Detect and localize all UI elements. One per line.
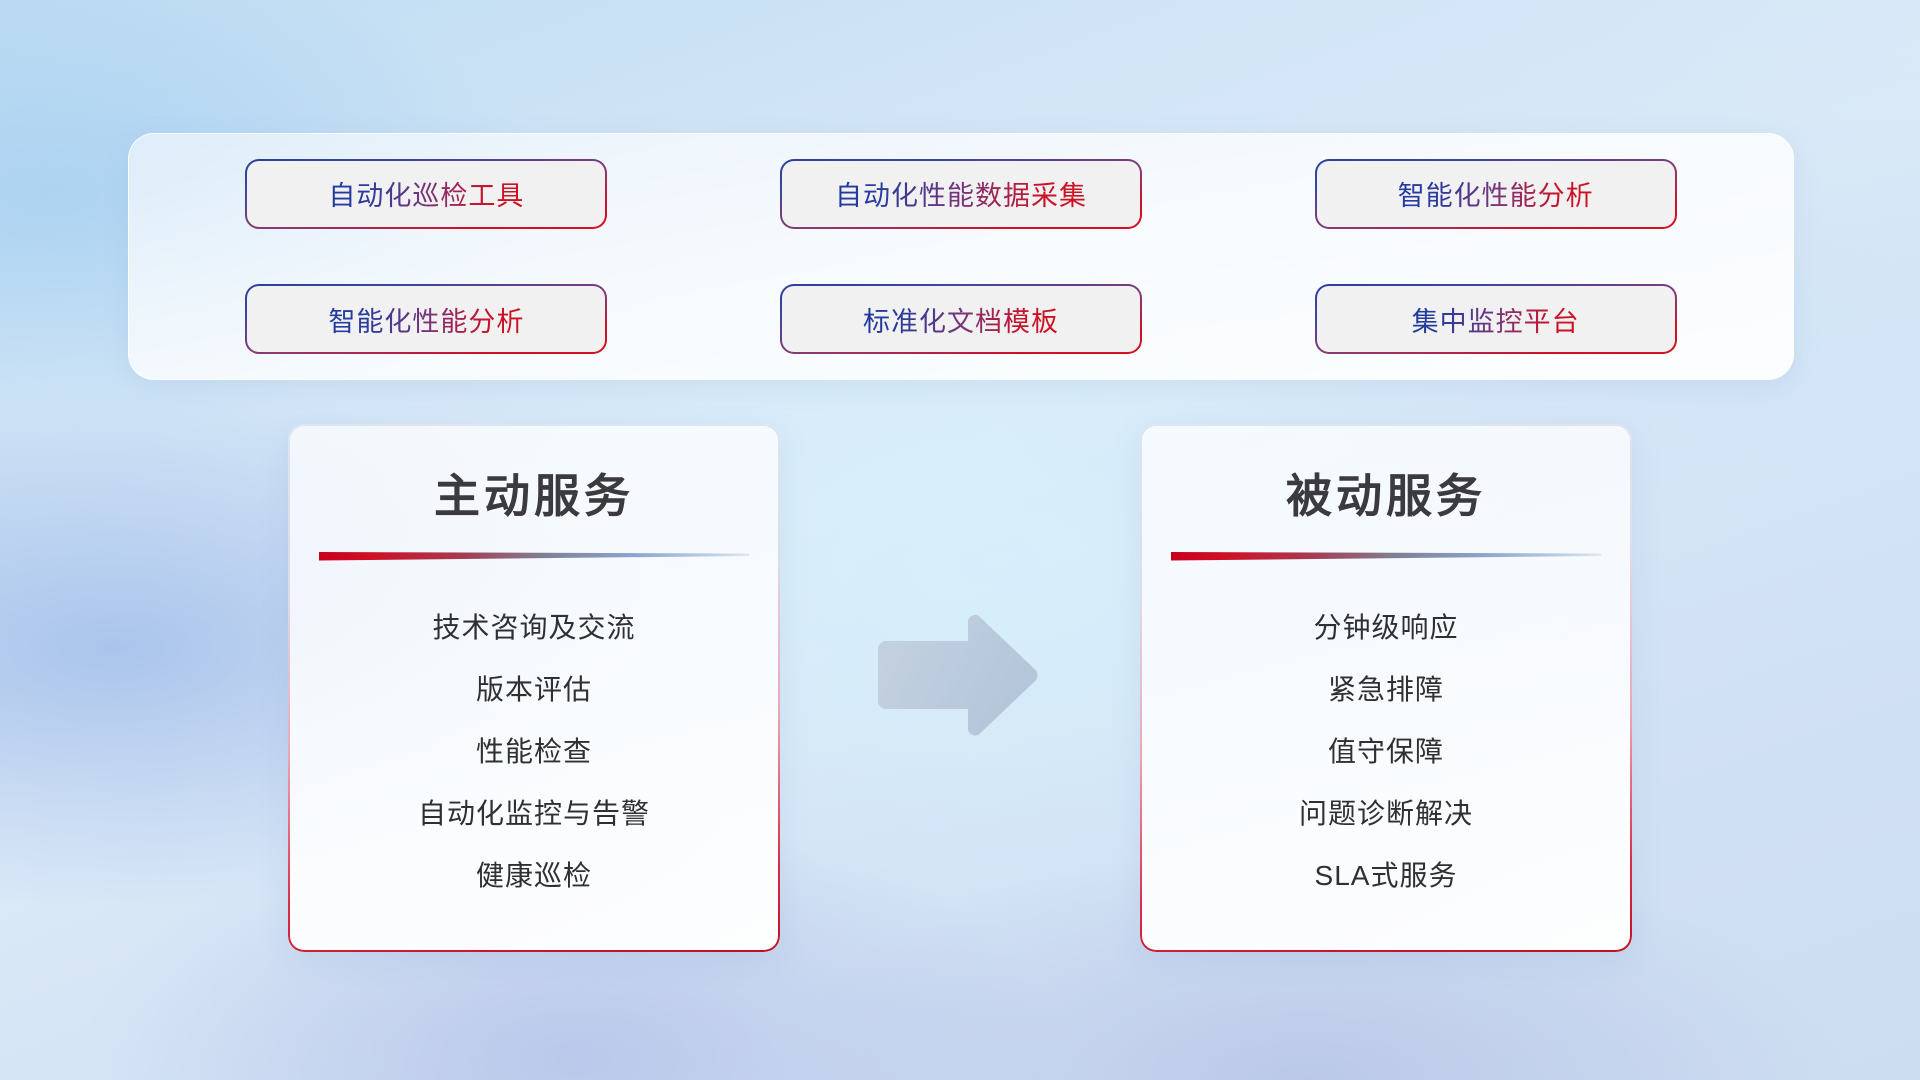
flow-arrow-right-icon bbox=[872, 613, 1042, 738]
list-item: SLA式服务 bbox=[1140, 845, 1632, 907]
capability-pill-label: 自动化性能数据采集 bbox=[835, 174, 1087, 213]
list-item: 紧急排障 bbox=[1140, 659, 1632, 721]
diagram-canvas: 自动化巡检工具 自动化性能数据采集 智能化性能分析 智能化性能分析 标准化文档模… bbox=[0, 0, 1920, 1080]
list-item: 自动化监控与告警 bbox=[288, 783, 780, 845]
capability-pill-automated-performance-data-collection[interactable]: 自动化性能数据采集 bbox=[782, 161, 1140, 227]
capability-pill-automated-inspection-tool[interactable]: 自动化巡检工具 bbox=[247, 161, 605, 227]
list-item: 版本评估 bbox=[288, 659, 780, 721]
service-card-active: 主动服务 技术咨询及交流 版本评估 bbox=[288, 424, 780, 952]
list-item: 分钟级响应 bbox=[1140, 597, 1632, 659]
list-item: 健康巡检 bbox=[288, 845, 780, 907]
list-item: 问题诊断解决 bbox=[1140, 783, 1632, 845]
service-card-passive: 被动服务 分钟级响应 紧急排障 bbox=[1140, 424, 1632, 952]
capability-pill-label: 集中监控平台 bbox=[1412, 300, 1580, 339]
capability-panel: 自动化巡检工具 自动化性能数据采集 智能化性能分析 智能化性能分析 标准化文档模… bbox=[128, 133, 1794, 380]
service-card-list: 技术咨询及交流 版本评估 性能检查 自动化监控与告警 健康巡检 bbox=[288, 561, 780, 907]
capability-pill-standardized-document-template[interactable]: 标准化文档模板 bbox=[782, 286, 1140, 352]
capability-pill-label: 自动化巡检工具 bbox=[328, 174, 524, 213]
service-card-list: 分钟级响应 紧急排障 值守保障 问题诊断解决 SLA式服务 bbox=[1140, 561, 1632, 907]
capability-pill-intelligent-performance-analysis-top[interactable]: 智能化性能分析 bbox=[1317, 161, 1675, 227]
capability-pill-centralized-monitoring-platform[interactable]: 集中监控平台 bbox=[1317, 286, 1675, 352]
list-item: 性能检查 bbox=[288, 721, 780, 783]
service-card-title: 被动服务 bbox=[1140, 424, 1632, 526]
capability-pill-label: 智能化性能分析 bbox=[328, 300, 524, 339]
title-divider bbox=[1171, 550, 1601, 561]
capability-pill-grid: 自动化巡检工具 自动化性能数据采集 智能化性能分析 智能化性能分析 标准化文档模… bbox=[129, 134, 1793, 379]
title-divider bbox=[319, 550, 749, 561]
service-card-title: 主动服务 bbox=[288, 424, 780, 526]
list-item: 值守保障 bbox=[1140, 721, 1632, 783]
list-item: 技术咨询及交流 bbox=[288, 597, 780, 659]
capability-pill-intelligent-performance-analysis-bottom[interactable]: 智能化性能分析 bbox=[247, 286, 605, 352]
capability-pill-label: 标准化文档模板 bbox=[863, 300, 1059, 339]
capability-pill-label: 智能化性能分析 bbox=[1398, 174, 1594, 213]
